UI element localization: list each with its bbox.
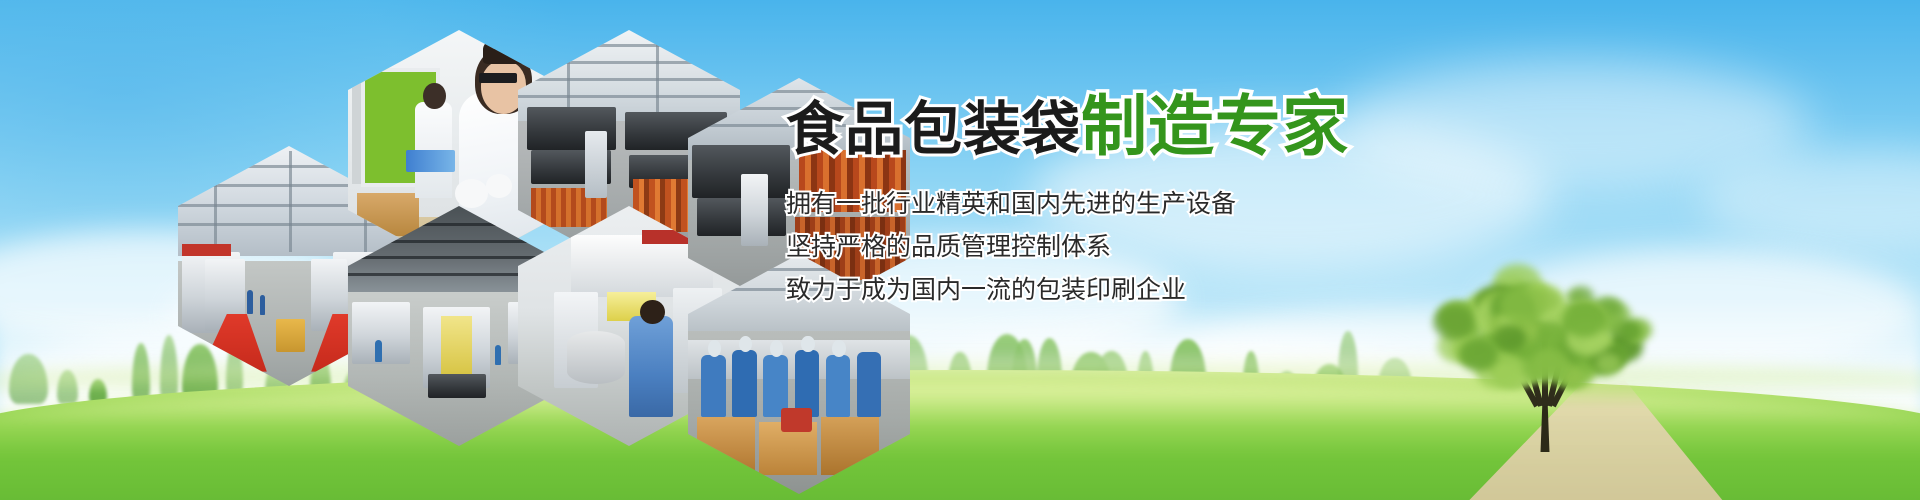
- banner-text-block: 食品包装袋制造专家 拥有一批行业精英和国内先进的生产设备 坚持严格的品质管理控制…: [786, 96, 1686, 311]
- headline-green-part: 制造专家: [1081, 88, 1349, 165]
- headline: 食品包装袋制造专家: [786, 96, 1686, 160]
- tree-foliage: [1537, 322, 1565, 345]
- tree-foliage: [1459, 338, 1499, 371]
- tree-foliage: [1494, 325, 1525, 351]
- tree-foliage: [1621, 322, 1641, 339]
- subline-3: 致力于成为国内一流的包装印刷企业: [786, 268, 1686, 311]
- headline-dark-part: 食品包装袋: [786, 95, 1081, 163]
- subline-1: 拥有一批行业精英和国内先进的生产设备: [786, 182, 1686, 225]
- subline-list: 拥有一批行业精英和国内先进的生产设备 坚持严格的品质管理控制体系 致力于成为国内…: [786, 182, 1686, 311]
- promo-banner: 食品包装袋制造专家 拥有一批行业精英和国内先进的生产设备 坚持严格的品质管理控制…: [0, 0, 1920, 500]
- subline-2: 坚持严格的品质管理控制体系: [786, 225, 1686, 268]
- hexagon-photo-cluster: [170, 18, 790, 368]
